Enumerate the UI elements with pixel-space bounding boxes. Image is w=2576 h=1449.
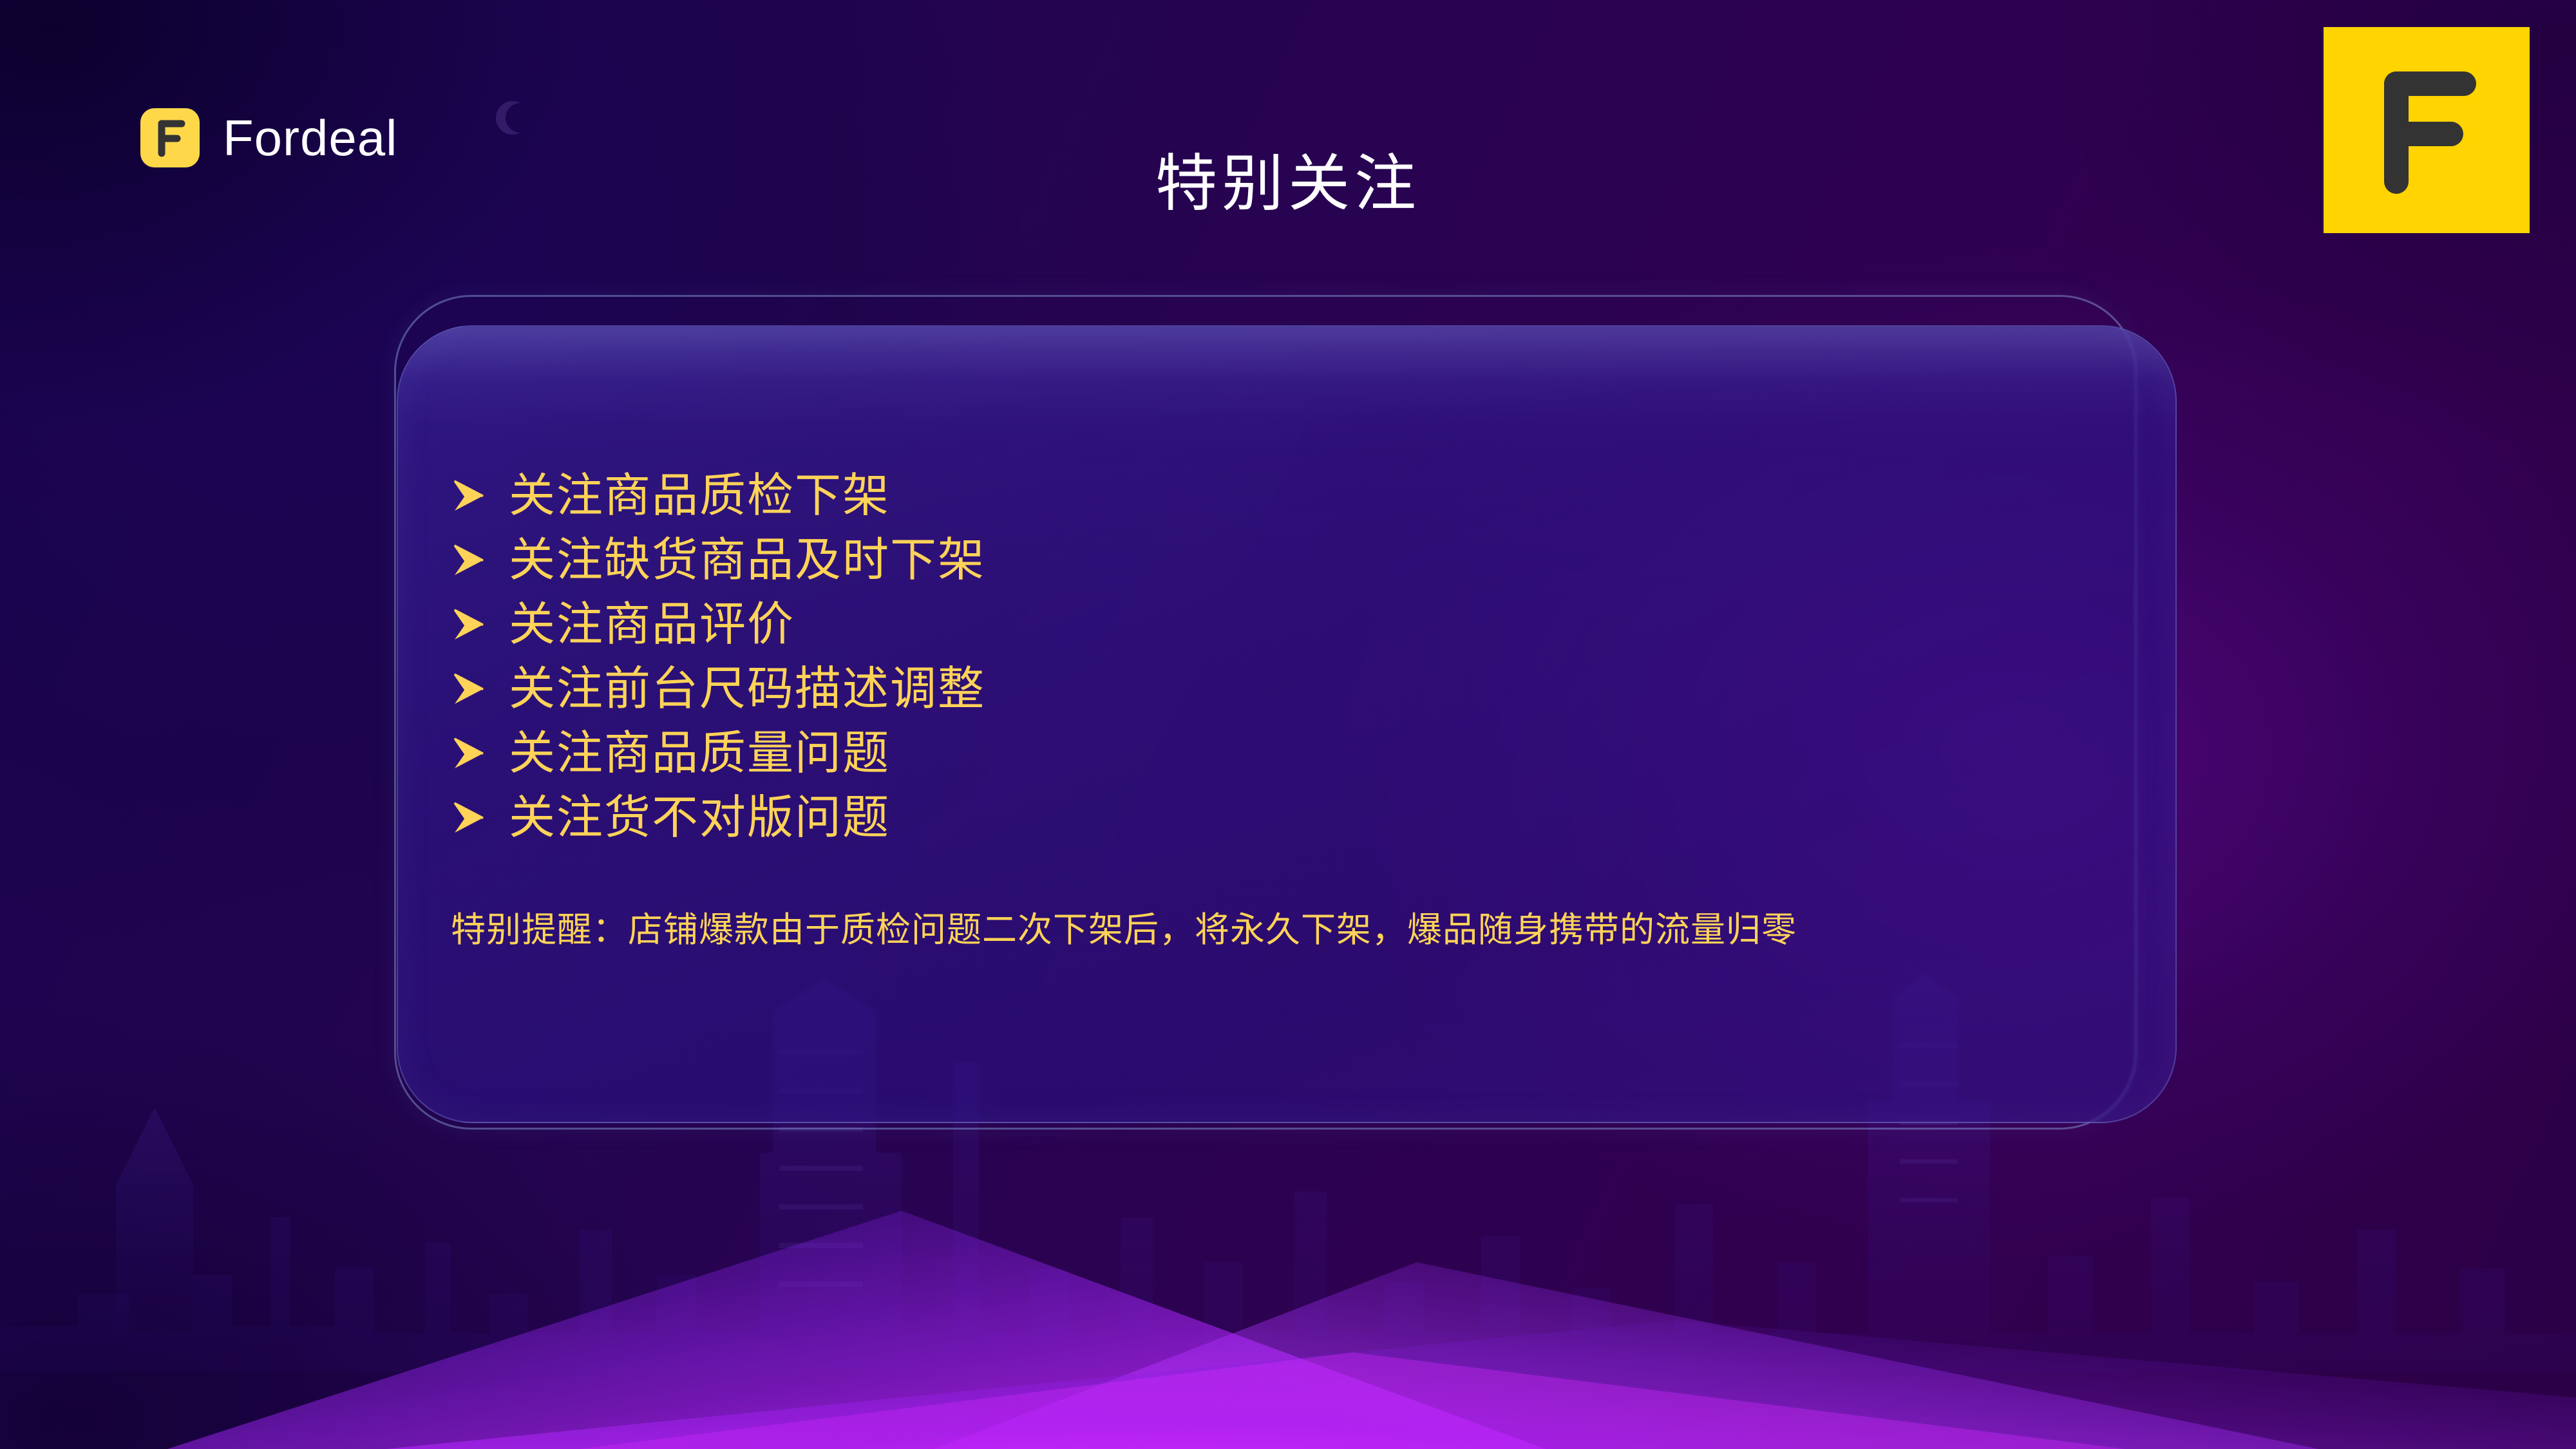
attention-list: 关注商品质检下架 关注缺货商品及时下架 关注商品评价 xyxy=(451,464,2138,850)
list-item[interactable]: 关注前台尺码描述调整 xyxy=(451,657,2138,721)
arrowhead-bullet-icon xyxy=(451,543,486,578)
fordeal-f-badge-icon xyxy=(2324,27,2530,233)
card-top-sheen xyxy=(398,327,2175,423)
list-item[interactable]: 关注商品质量问题 xyxy=(451,721,2138,786)
list-item-label: 关注货不对版问题 xyxy=(509,795,890,841)
list-item-label: 关注缺货商品及时下架 xyxy=(509,537,985,583)
special-reminder-note: 特别提醒：店铺爆款由于质检问题二次下架后，将永久下架，爆品随身携带的流量归零 xyxy=(451,909,2138,951)
list-item-label: 关注前台尺码描述调整 xyxy=(509,666,985,712)
crescent-moon-icon xyxy=(489,97,532,139)
card-content: 关注商品质检下架 关注缺货商品及时下架 关注商品评价 xyxy=(451,464,2138,951)
page-title: 特别关注 xyxy=(0,153,2576,215)
slide-root: Fordeal 特别关注 关注商品质检下架 xyxy=(0,0,2576,1449)
list-item[interactable]: 关注商品质检下架 xyxy=(451,464,2138,528)
arrowhead-bullet-icon xyxy=(451,672,486,706)
list-item-label: 关注商品评价 xyxy=(509,601,795,648)
list-item-label: 关注商品质量问题 xyxy=(509,730,890,777)
list-item[interactable]: 关注货不对版问题 xyxy=(451,786,2138,850)
arrowhead-bullet-icon xyxy=(451,607,486,642)
list-item[interactable]: 关注缺货商品及时下架 xyxy=(451,528,2138,592)
arrowhead-bullet-icon xyxy=(451,736,486,771)
arrowhead-bullet-icon xyxy=(451,478,486,513)
list-item[interactable]: 关注商品评价 xyxy=(451,592,2138,657)
list-item-label: 关注商品质检下架 xyxy=(509,473,890,519)
bottom-glow xyxy=(0,1256,2576,1449)
arrowhead-bullet-icon xyxy=(451,800,486,835)
